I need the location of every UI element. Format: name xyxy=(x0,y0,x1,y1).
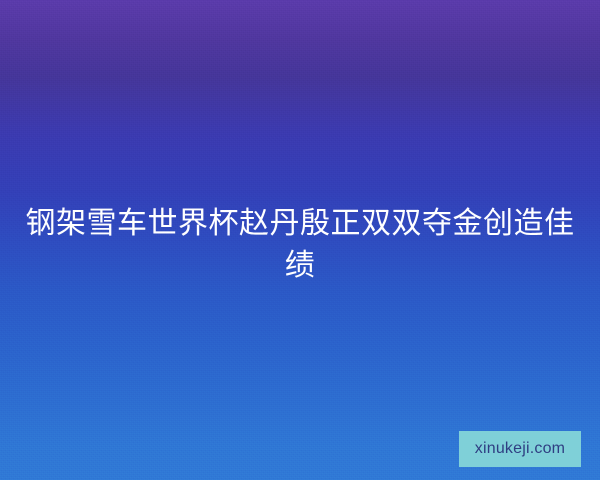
article-cover-image: 钢架雪车世界杯赵丹殷正双双夺金创造佳绩 xinukeji.com xyxy=(0,0,600,480)
page-title: 钢架雪车世界杯赵丹殷正双双夺金创造佳绩 xyxy=(24,203,576,287)
watermark-badge: xinukeji.com xyxy=(459,431,581,467)
headline-block: 钢架雪车世界杯赵丹殷正双双夺金创造佳绩 xyxy=(0,203,600,287)
watermark-label: xinukeji.com xyxy=(475,441,565,457)
